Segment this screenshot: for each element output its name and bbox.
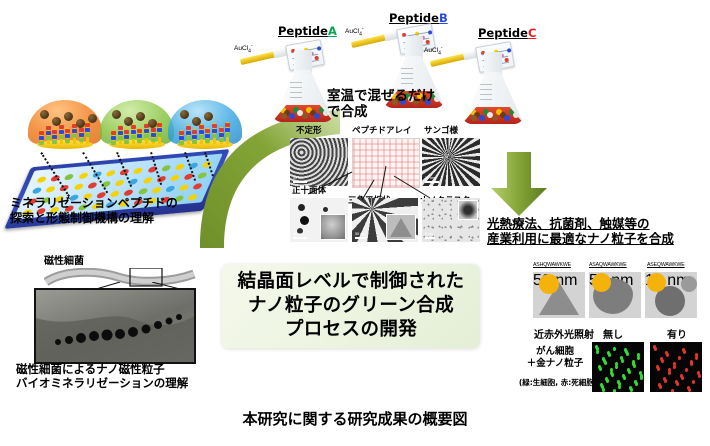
reaction-flask-c [462, 52, 524, 124]
cell-marker [596, 350, 599, 354]
peptide-strand [132, 124, 135, 144]
cell-marker [676, 382, 679, 386]
cell-marker [664, 379, 667, 383]
morph-label-peptide-array: ペプチドアレイ [352, 126, 412, 136]
cell-marker [673, 365, 676, 369]
bacteria-caption: 磁性細菌によるナノ磁性粒子 バイオミネラリゼーションの理解 [16, 362, 188, 390]
aunp-tem-3: 10 nm [645, 272, 697, 318]
aucl4-label-a: AuCl4- [234, 43, 253, 54]
cell-marker [604, 361, 607, 365]
array-spot [64, 174, 75, 181]
aucl4-text: AuCl [234, 45, 248, 52]
peptide-dome-orange [28, 100, 102, 152]
morphology-connectors [290, 150, 490, 210]
gold-nanoparticle [136, 112, 145, 121]
peptide-c-text: Peptide [478, 26, 528, 40]
peptide-strand [152, 127, 155, 144]
aucl4-sup: - [251, 43, 253, 49]
colloid-particle [302, 113, 308, 119]
colloid-particle [314, 113, 320, 119]
aucl4-sub: 4 [248, 48, 251, 54]
cell-marker [678, 356, 681, 360]
colloid-particle [289, 113, 295, 119]
gold-nanoparticle [112, 110, 121, 119]
figure-title: 本研究に関する研究成果の概要図 [0, 410, 710, 429]
peptide-strand [125, 129, 128, 144]
gold-nanoparticle [88, 114, 97, 123]
peptide-strand [86, 122, 89, 144]
array-spot [114, 180, 125, 187]
peptide-strand [60, 124, 63, 144]
cell-marker [685, 368, 688, 372]
concept-line1: 結晶面レベルで制御された [238, 270, 465, 294]
cell-marker [621, 359, 624, 363]
cell-marker [657, 367, 660, 371]
synthesis-note: 室温で混ぜるだけ で合成 [327, 88, 435, 121]
cell-marker [683, 350, 686, 354]
bacteria-caption-line2: バイオミネラリゼーションの理解 [16, 376, 188, 390]
array-spot [174, 164, 185, 171]
reaction-flask-a [272, 50, 334, 122]
colloid-particle [504, 115, 510, 121]
peptide-b-letter: B [439, 11, 448, 25]
peptide-label-b: PeptideB [389, 11, 448, 25]
bacteria-caption-line1: 磁性細菌によるナノ磁性粒子 [16, 362, 188, 376]
cell-marker [671, 389, 674, 393]
fluorescence-nir-off [592, 342, 644, 392]
gold-nanoparticle [124, 117, 133, 126]
aucl4-sub: 4 [438, 50, 441, 56]
aucl4-label-c: AuCl4- [424, 45, 443, 56]
cell-marker [615, 365, 618, 369]
application-line1: 光熱療法、抗菌剤、触媒等の [487, 216, 674, 231]
cell-marker [692, 380, 695, 384]
peptide-c-letter: C [528, 26, 536, 40]
cell-marker [611, 373, 614, 377]
gold-nanoparticle [148, 119, 157, 128]
array-spot [165, 186, 176, 193]
colloid-particle [281, 113, 287, 119]
colloid-particle [492, 115, 498, 121]
array-spot [87, 182, 98, 189]
array-spot [73, 183, 84, 190]
cell-marker [613, 389, 616, 393]
array-spot [161, 165, 172, 172]
peptide-strand [73, 123, 76, 144]
morph-label-coral: サンゴ様 [424, 126, 458, 136]
peptide-label-c: PeptideC [478, 26, 536, 40]
cell-marker [618, 385, 621, 389]
figure-title-text: 本研究に関する研究成果の概要図 [242, 410, 467, 428]
cell-marker [637, 356, 640, 360]
peptide-dome-green [100, 100, 174, 152]
cell-marker [606, 379, 609, 383]
gold-nanoparticle [76, 119, 85, 128]
peptide-strand [180, 130, 183, 144]
cell-marker [690, 362, 693, 366]
colloid-particle [479, 115, 485, 121]
peptide-strand [47, 125, 50, 144]
peptide-strand [119, 125, 122, 144]
aucl4-text: AuCl [345, 28, 359, 35]
cell-marker [695, 356, 698, 360]
aucl4-sub: 4 [359, 31, 362, 37]
fluorescence-nir-on [650, 342, 702, 392]
cell-marker [688, 388, 691, 392]
array-spot [45, 186, 56, 193]
array-spot [78, 172, 89, 179]
cell-marker [608, 353, 611, 357]
peptide-strand [112, 130, 115, 144]
sample-line2: ＋金ナノ粒子 [520, 358, 590, 370]
concept-box: 結晶面レベルで制御された ナノ粒子のグリーン合成 プロセスの開発 [222, 264, 480, 348]
cell-marker [630, 388, 633, 392]
cell-marker [659, 385, 662, 389]
array-spot [133, 167, 144, 174]
concept-line2: ナノ粒子のグリーン合成 [238, 294, 465, 318]
left-caption-line1: ミネラリゼーションペプチドの [10, 196, 178, 211]
peptide-strand [53, 129, 56, 144]
colloid-particle [471, 115, 477, 121]
aucl4-sup: - [441, 45, 443, 51]
bacteria-label: 磁性細菌 [44, 256, 84, 268]
application-line2: 産業利用に最適なナノ粒子を合成 [487, 231, 674, 246]
sequence-2: ASAQWAWKWE [589, 262, 627, 268]
array-spot [36, 176, 47, 183]
cell-marker [661, 359, 664, 363]
nir-on-label: 有り [667, 330, 687, 342]
cell-marker [623, 376, 626, 380]
peptide-strand [80, 127, 83, 144]
array-spot [142, 177, 153, 184]
array-spot [137, 188, 148, 195]
concept-text: 結晶面レベルで制御された ナノ粒子のグリーン合成 プロセスの開発 [238, 270, 465, 341]
peptide-a-letter: A [328, 24, 337, 38]
gold-nanoparticle [40, 110, 49, 119]
cell-marker [602, 388, 605, 392]
nir-label: 近赤外光照射 [534, 330, 594, 342]
sample-label: がん細胞 ＋金ナノ粒子 [520, 346, 590, 369]
peptide-strand [158, 122, 161, 144]
application-caption: 光熱療法、抗菌剤、触媒等の 産業利用に最適なナノ粒子を合成 [487, 216, 674, 247]
cell-marker [613, 347, 616, 351]
concept-line3: プロセスの開発 [238, 318, 465, 342]
card-dot [428, 30, 433, 35]
cell-marker [666, 353, 669, 357]
morph-label-amorphous: 不定形 [296, 126, 322, 136]
peptide-strand [40, 130, 43, 144]
cell-marker [640, 376, 643, 380]
synthesis-note-line2: で合成 [327, 104, 435, 120]
gold-nanoparticle [64, 112, 73, 121]
peptide-label-a: PeptideA [278, 24, 337, 38]
cell-marker [698, 374, 701, 378]
peptide-strand [66, 128, 69, 144]
cell-marker [626, 352, 629, 356]
synthesis-note-line1: 室温で混ぜるだけ [327, 88, 435, 104]
cell-marker [654, 347, 657, 351]
cell-marker [681, 376, 684, 380]
peptide-a-text: Peptide [278, 24, 328, 38]
cell-marker [633, 364, 636, 368]
aucl4-sup: - [362, 26, 364, 32]
array-spot [105, 170, 116, 177]
sample-line1: がん細胞 [520, 346, 590, 358]
aucl4-label-b: AuCl4- [345, 26, 364, 37]
application-down-arrow [487, 152, 551, 218]
array-spot [170, 175, 181, 182]
gold-nanoparticle [52, 117, 61, 126]
magnetosome-tem [34, 288, 196, 364]
aunp-tem-2: 50 nm [589, 272, 641, 318]
peptide-strand [138, 128, 141, 144]
cell-marker [599, 367, 602, 371]
cell-marker [628, 370, 631, 374]
nir-off-label: 無し [603, 330, 623, 342]
aucl4-text: AuCl [424, 47, 438, 54]
cell-marker [635, 382, 638, 386]
array-spot [151, 187, 162, 194]
peptide-b-text: Peptide [389, 11, 439, 25]
aunp-tem-1: 50 nm [533, 272, 585, 318]
left-caption: ミネラリゼーションペプチドの 探索と形態制御機構の理解 [10, 196, 178, 225]
sequence-3: ASEQWAWKWE [647, 262, 685, 268]
sequence-1: ASHQWAWKWE [533, 262, 571, 268]
peptide-strand [145, 123, 148, 144]
array-spot [31, 187, 42, 194]
left-caption-line2: 探索と形態制御機構の理解 [10, 211, 178, 226]
cell-marker [668, 371, 671, 375]
